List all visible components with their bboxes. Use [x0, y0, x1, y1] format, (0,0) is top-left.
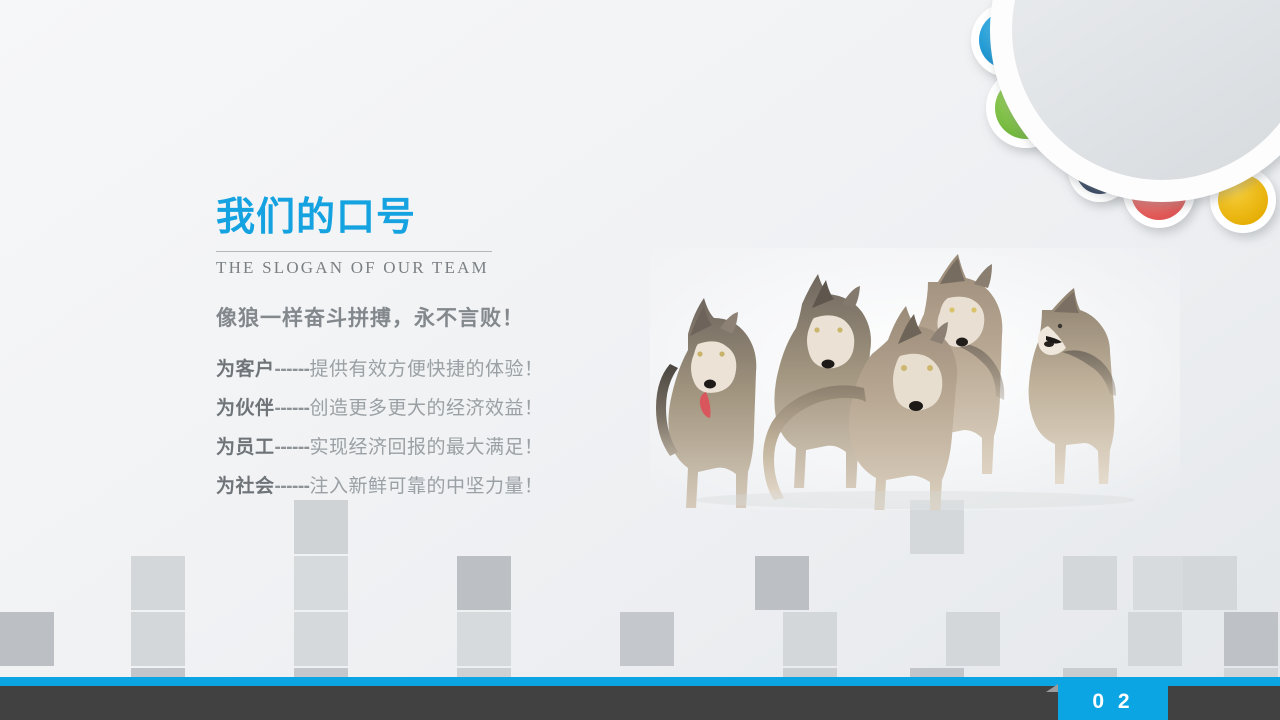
- slide-canvas: 我们的口号 THE SLOGAN OF OUR TEAM 像狼一样奋斗拼搏，永不…: [0, 0, 1280, 720]
- bullet-dashes: ------: [275, 476, 310, 497]
- mosaic-tile: [1128, 612, 1182, 666]
- mosaic-tile: [1224, 612, 1278, 666]
- bullet-label: 为伙伴: [216, 398, 275, 419]
- mosaic-tile: [294, 612, 348, 666]
- mosaic-tile: [755, 556, 809, 610]
- page-title: 我们的口号: [216, 196, 686, 241]
- dot-navy: [1068, 138, 1132, 202]
- dot-green: [986, 68, 1066, 148]
- mosaic-tile: [1063, 556, 1117, 610]
- list-item: 为客户------提供有效方便快捷的体验！: [216, 360, 686, 379]
- mosaic-pattern: [0, 500, 1280, 685]
- mosaic-tile: [1183, 556, 1237, 610]
- bullet-label: 为社会: [216, 476, 275, 497]
- title-underline: [216, 251, 492, 252]
- list-item: 为社会------注入新鲜可靠的中坚力量！: [216, 477, 686, 496]
- bullet-description: 实现经济回报的最大满足！: [309, 437, 543, 458]
- slogan-text-block: 我们的口号 THE SLOGAN OF OUR TEAM 像狼一样奋斗拼搏，永不…: [216, 196, 686, 516]
- bullet-description: 提供有效方便快捷的体验！: [309, 359, 543, 380]
- bullet-label: 为员工: [216, 437, 275, 458]
- dot-red: [1123, 156, 1195, 228]
- bullet-dashes: ------: [275, 437, 310, 458]
- bullet-dashes: ------: [275, 398, 310, 419]
- list-item: 为员工------实现经济回报的最大满足！: [216, 438, 686, 457]
- list-item: 为伙伴------创造更多更大的经济效益！: [216, 399, 686, 418]
- dot-blue: [971, 3, 1045, 77]
- mosaic-tile: [0, 612, 54, 666]
- page-number-notch: [1046, 684, 1058, 692]
- mosaic-tile: [946, 612, 1000, 666]
- page-number-badge: 0 2: [1058, 684, 1168, 720]
- page-subtitle: THE SLOGAN OF OUR TEAM: [216, 258, 686, 278]
- mosaic-tile: [457, 612, 511, 666]
- bullet-description: 注入新鲜可靠的中坚力量！: [309, 476, 543, 497]
- dot-yellow: [1210, 167, 1276, 233]
- mosaic-tile: [294, 556, 348, 610]
- mosaic-tile: [1133, 556, 1187, 610]
- mosaic-tile: [131, 612, 185, 666]
- bullet-dashes: ------: [275, 359, 310, 380]
- mosaic-tile: [131, 556, 185, 610]
- main-slogan: 像狼一样奋斗拼搏，永不言败！: [216, 302, 686, 332]
- bullet-description: 创造更多更大的经济效益！: [309, 398, 543, 419]
- mosaic-tile: [783, 612, 837, 666]
- bullet-list: 为客户------提供有效方便快捷的体验！ 为伙伴------创造更多更大的经济…: [216, 360, 686, 496]
- wolf-pack-photo: [650, 248, 1180, 510]
- big-ring-circle: [990, 0, 1280, 202]
- mosaic-tile: [457, 556, 511, 610]
- mosaic-tile: [620, 612, 674, 666]
- decorative-circles: [940, 0, 1280, 280]
- bullet-label: 为客户: [216, 359, 275, 380]
